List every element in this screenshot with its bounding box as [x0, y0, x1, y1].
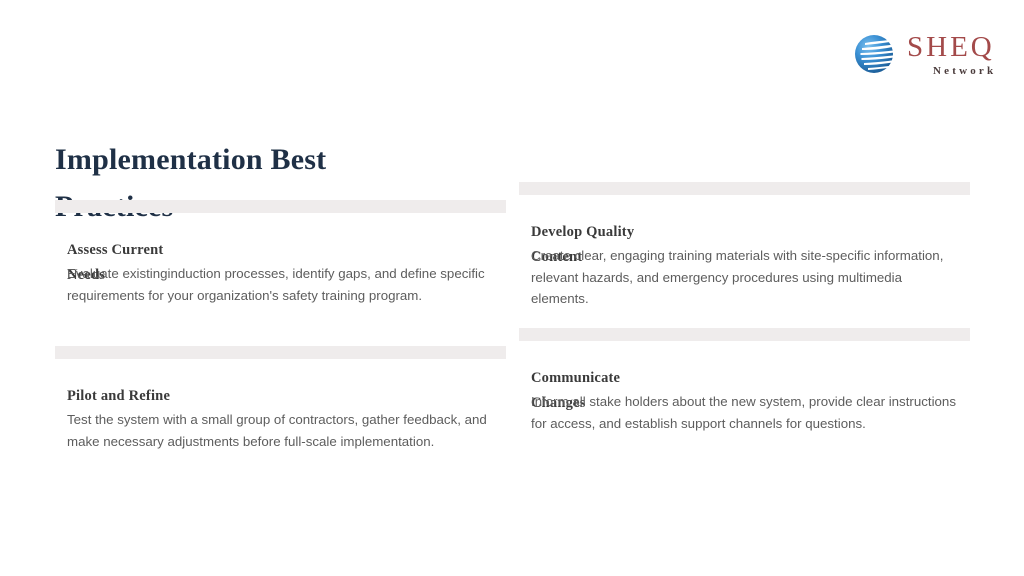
card-body: Pilot and Refine Test the system with a …	[55, 384, 506, 452]
brand-wordmark: SHEQ Network	[907, 31, 996, 77]
globe-icon	[851, 30, 899, 78]
card-text: Inform all stake holders about the new s…	[531, 366, 961, 434]
brand-name: SHEQ	[907, 33, 996, 62]
card-accent-bar	[519, 328, 970, 341]
card-pilot-and-refine: Pilot and Refine Test the system with a …	[55, 346, 506, 452]
card-body: Develop Quality Content Create clear, en…	[519, 220, 970, 310]
card-text: Test the system with a small group of co…	[67, 384, 487, 452]
card-accent-bar	[55, 200, 506, 213]
card-assess-current-needs: Assess Current Needs Evaluate existingin…	[55, 200, 506, 306]
card-text: Create clear, engaging training material…	[531, 220, 961, 310]
card-accent-bar	[519, 182, 970, 195]
card-text: Evaluate existinginduction processes, id…	[67, 238, 487, 306]
card-body: Assess Current Needs Evaluate existingin…	[55, 238, 506, 306]
brand-subtitle: Network	[933, 66, 996, 77]
card-communicate-changes: Communicate Changes Inform all stake hol…	[519, 328, 970, 434]
card-body: Communicate Changes Inform all stake hol…	[519, 366, 970, 434]
brand-logo: SHEQ Network	[851, 28, 986, 80]
card-develop-quality-content: Develop Quality Content Create clear, en…	[519, 182, 970, 310]
card-accent-bar	[55, 346, 506, 359]
